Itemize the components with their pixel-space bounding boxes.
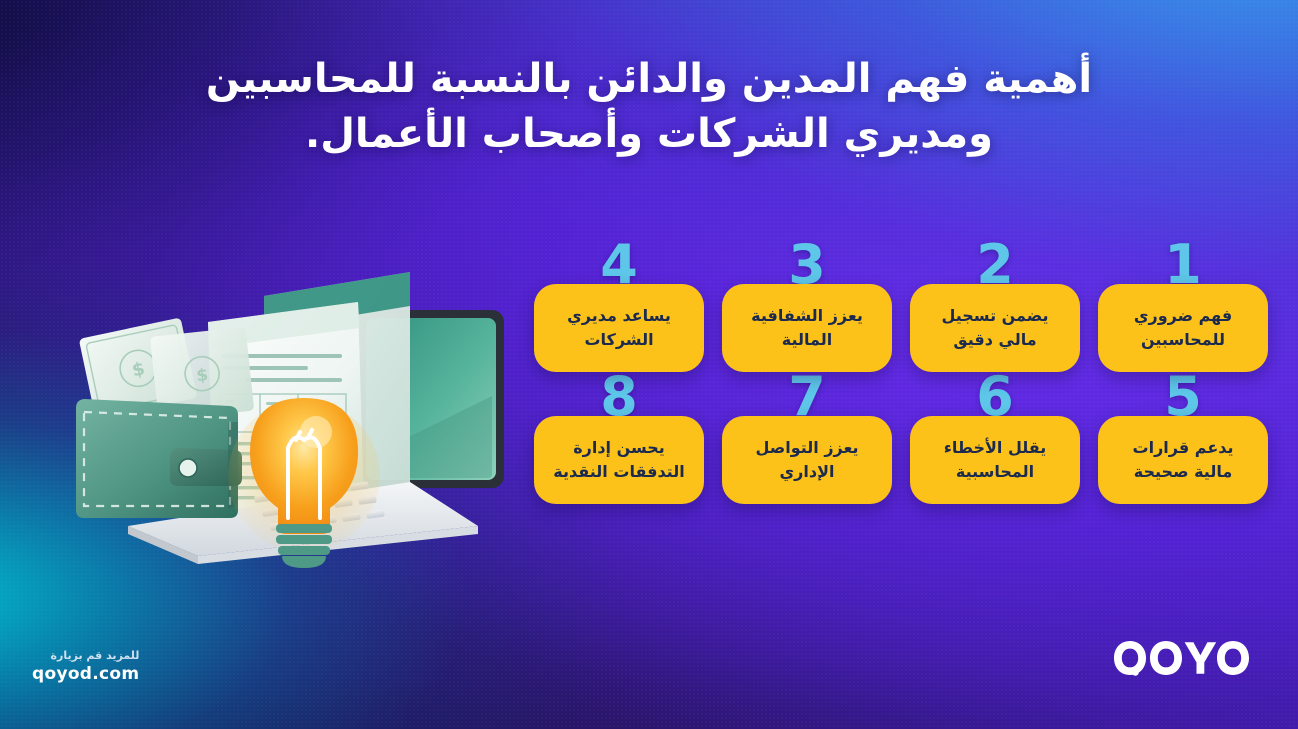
benefit-card-cell: 2يضمن تسجيلمالي دقيق: [910, 256, 1080, 372]
benefit-card-cell: 4يساعد مديريالشركات: [534, 256, 704, 372]
benefit-card-text-line: يدعم قرارات: [1133, 438, 1234, 458]
benefit-card-text-line: الشركات: [584, 330, 653, 350]
benefit-card-text-line: يعزز التواصل: [755, 438, 858, 458]
benefit-card[interactable]: يعزز التواصلالإداري: [722, 416, 892, 504]
benefit-card-text-line: التدفقات النقدية: [553, 462, 684, 482]
benefit-card-cell: 6يقلل الأخطاءالمحاسبية: [910, 388, 1080, 504]
benefit-card[interactable]: يحسن إدارةالتدفقات النقدية: [534, 416, 704, 504]
benefit-card-text-line: الإداري: [780, 462, 835, 482]
benefit-card-cell: 8يحسن إدارةالتدفقات النقدية: [534, 388, 704, 504]
benefit-card-text-line: للمحاسبين: [1141, 330, 1225, 350]
benefit-card[interactable]: يدعم قراراتمالية صحيحة: [1098, 416, 1268, 504]
benefit-card-text-line: مالي دقيق: [953, 330, 1036, 350]
benefit-card-cell: 3يعزز الشفافيةالمالية: [722, 256, 892, 372]
benefit-card-text-line: المحاسبية: [956, 462, 1034, 482]
benefit-card-text-line: يقلل الأخطاء: [944, 438, 1047, 458]
page-title: أهمية فهم المدين والدائن بالنسبة للمحاسب…: [46, 52, 1252, 162]
benefit-card-text-line: يعزز الشفافية: [751, 306, 863, 326]
benefit-card-cell: 1فهم ضروريللمحاسبين: [1098, 256, 1268, 372]
page-title-line-2: ومديري الشركات وأصحاب الأعمال.: [46, 107, 1252, 162]
benefit-card-text-line: يضمن تسجيل: [941, 306, 1048, 326]
benefit-card-text-line: يحسن إدارة: [573, 438, 665, 458]
benefit-card[interactable]: فهم ضروريللمحاسبين: [1098, 284, 1268, 372]
benefit-card[interactable]: يساعد مديريالشركات: [534, 284, 704, 372]
qoyod-logo: [1112, 639, 1252, 679]
benefit-card[interactable]: يضمن تسجيلمالي دقيق: [910, 284, 1080, 372]
benefit-card[interactable]: يقلل الأخطاءالمحاسبية: [910, 416, 1080, 504]
svg-text:$: $: [195, 365, 209, 386]
benefit-card-text-line: يساعد مديري: [567, 306, 671, 326]
infographic-canvas: أهمية فهم المدين والدائن بالنسبة للمحاسب…: [0, 0, 1298, 729]
page-title-line-1: أهمية فهم المدين والدائن بالنسبة للمحاسب…: [46, 52, 1252, 107]
footer-visit-block: للمزيد قم بزيارة qoyod.com: [32, 649, 139, 685]
benefit-card-grid: 1فهم ضروريللمحاسبين2يضمن تسجيلمالي دقيق3…: [516, 256, 1268, 504]
accounting-illustration: $ $: [58, 226, 508, 574]
footer-visit-label: للمزيد قم بزيارة: [32, 649, 139, 663]
benefit-card-cell: 5يدعم قراراتمالية صحيحة: [1098, 388, 1268, 504]
benefit-card-text-line: المالية: [782, 330, 832, 350]
footer-url[interactable]: qoyod.com: [32, 664, 139, 685]
wallet: [76, 399, 242, 518]
benefit-card[interactable]: يعزز الشفافيةالمالية: [722, 284, 892, 372]
benefit-card-text-line: مالية صحيحة: [1134, 462, 1232, 482]
benefit-card-cell: 7يعزز التواصلالإداري: [722, 388, 892, 504]
benefit-card-text-line: فهم ضروري: [1134, 306, 1232, 326]
